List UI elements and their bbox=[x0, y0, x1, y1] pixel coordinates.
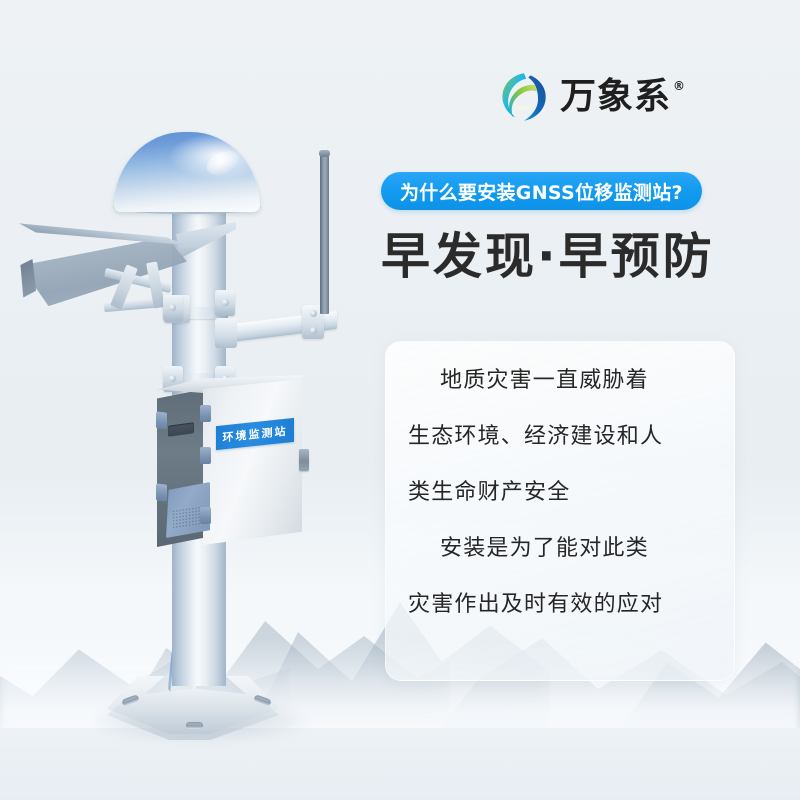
gnss-dome-antenna bbox=[114, 132, 260, 212]
brand-name-text: 万象系 bbox=[560, 79, 671, 115]
pole-clamp-bolt bbox=[169, 375, 176, 382]
enclosure-vent-holes bbox=[172, 506, 200, 530]
poster-canvas: 环境监测站 bbox=[0, 0, 800, 800]
description-line: 类生命财产安全 bbox=[408, 482, 712, 504]
cross-arm-pole-clamp bbox=[215, 318, 237, 348]
globe-swirl-logo-icon bbox=[497, 70, 551, 124]
anchor-bolt-slot bbox=[186, 722, 203, 729]
page-title: 早发现·早预防 bbox=[381, 228, 715, 287]
description-line: 安装是为了能对此类 bbox=[408, 538, 712, 560]
description-card: 地质灾害一直威胁着 生态环境、经济建设和人 类生命财产安全 安装是为了能对此类 … bbox=[385, 341, 735, 681]
question-pill-badge[interactable]: 为什么要安装GNSS位移监测站? bbox=[381, 172, 702, 210]
enclosure-latch bbox=[156, 411, 167, 429]
gnss-monitoring-station-illustration: 环境监测站 bbox=[0, 0, 400, 800]
description-line: 灾害作出及时有效的应对 bbox=[408, 594, 712, 616]
enclosure-front-panel bbox=[203, 379, 302, 545]
question-pill-text: 为什么要安装GNSS位移监测站? bbox=[400, 178, 683, 205]
whip-antenna-cap bbox=[319, 150, 330, 157]
enclosure-handle bbox=[299, 449, 309, 471]
antenna-bracket-bolt bbox=[310, 310, 317, 317]
description-line: 地质灾害一直威胁着 bbox=[408, 370, 712, 392]
antenna-bracket-bolt bbox=[310, 327, 317, 334]
enclosure-latch bbox=[200, 405, 211, 422]
description-line: 生态环境、经济建设和人 bbox=[408, 426, 712, 448]
enclosure-name-label-text: 环境监测站 bbox=[223, 423, 288, 446]
registered-trademark-icon: ® bbox=[673, 80, 686, 92]
pole-clamp-bolt bbox=[169, 304, 176, 311]
enclosure-latch bbox=[200, 507, 211, 524]
whip-antenna bbox=[320, 152, 329, 314]
brand-wordmark: 万象系 ® bbox=[560, 79, 686, 115]
brand-logo: 万象系 ® bbox=[497, 70, 686, 124]
enclosure-latch bbox=[200, 447, 211, 464]
enclosure-latch bbox=[156, 483, 167, 501]
pole-clamp-bolt bbox=[222, 299, 229, 306]
